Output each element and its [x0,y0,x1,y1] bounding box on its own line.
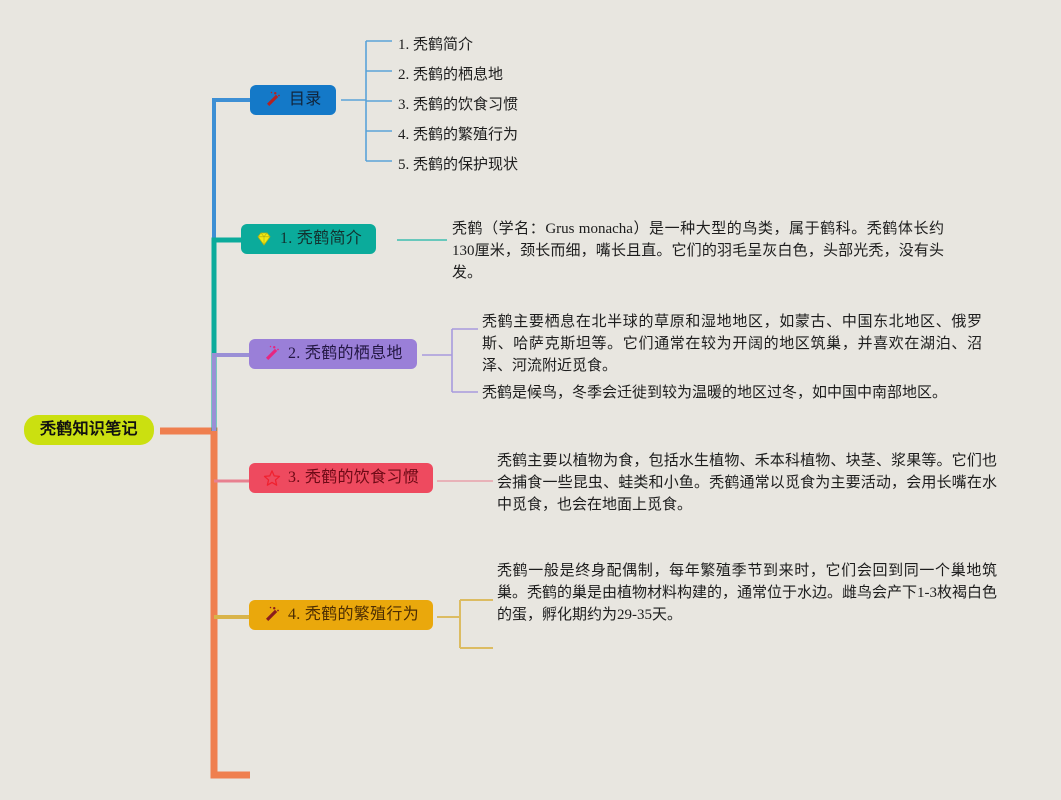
trunk-toc [214,100,250,431]
branch-node-toc-label: 目录 [289,92,322,108]
magic-wand-icon [263,345,281,363]
branch-node-habitat[interactable]: 2. 秃鹤的栖息地 [249,339,417,369]
mindmap-canvas: 秃鹤知识笔记 目录 1. 秃鹤简介 2. 秃鹤的栖息地 3. 秃鹤的饮食习惯 4… [0,0,1061,800]
wires-habitat-children [422,329,478,392]
paragraph-habitat-1[interactable]: 秃鹤主要栖息在北半球的草原和湿地地区，如蒙古、中国东北地区、俄罗斯、哈萨克斯坦等… [482,311,982,377]
root-node-label: 秃鹤知识笔记 [40,422,138,438]
trunk-main [160,431,250,775]
root-node[interactable]: 秃鹤知识笔记 [24,415,154,445]
branch-node-diet[interactable]: 3. 秃鹤的饮食习惯 [249,463,433,493]
magic-wand-icon [264,91,282,109]
paragraph-intro[interactable]: 秃鹤（学名：Grus monacha）是一种大型的鸟类，属于鹤科。秃鹤体长约13… [452,218,944,284]
branch-node-breeding-label: 4. 秃鹤的繁殖行为 [288,607,419,623]
wires-breeding-children [437,600,493,648]
branch-node-intro-label: 1. 秃鹤简介 [280,231,362,247]
star-icon [263,469,281,487]
paragraph-diet[interactable]: 秃鹤主要以植物为食，包括水生植物、禾本科植物、块茎、浆果等。它们也会捕食一些昆虫… [497,450,997,516]
toc-item-4[interactable]: 4. 秃鹤的繁殖行为 [398,123,518,144]
branch-node-breeding[interactable]: 4. 秃鹤的繁殖行为 [249,600,433,630]
diamond-icon [255,230,273,248]
toc-item-1[interactable]: 1. 秃鹤简介 [398,33,473,54]
paragraph-breeding[interactable]: 秃鹤一般是终身配偶制，每年繁殖季节到来时，它们会回到同一个巢地筑巢。秃鹤的巢是由… [497,560,997,626]
paragraph-habitat-2[interactable]: 秃鹤是候鸟，冬季会迁徙到较为温暖的地区过冬，如中国中南部地区。 [482,382,982,404]
wires-toc-children [341,41,392,161]
toc-item-3[interactable]: 3. 秃鹤的饮食习惯 [398,93,518,114]
branch-node-diet-label: 3. 秃鹤的饮食习惯 [288,470,419,486]
toc-item-5[interactable]: 5. 秃鹤的保护现状 [398,153,518,174]
trunk-intro [214,240,241,431]
magic-wand-icon [263,606,281,624]
branch-node-habitat-label: 2. 秃鹤的栖息地 [288,346,403,362]
toc-item-2[interactable]: 2. 秃鹤的栖息地 [398,63,503,84]
trunk-habitat [214,355,249,431]
branch-node-toc[interactable]: 目录 [250,85,336,115]
branch-node-intro[interactable]: 1. 秃鹤简介 [241,224,376,254]
